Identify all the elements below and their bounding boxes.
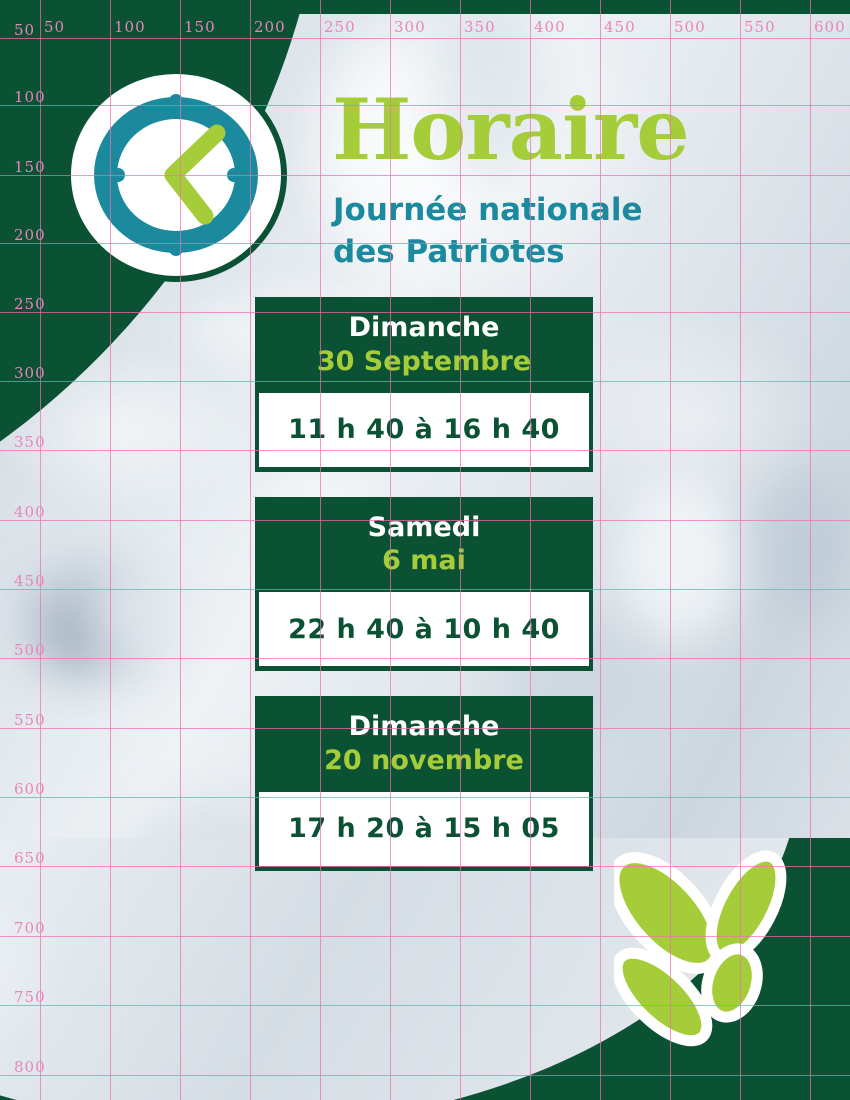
photo-blur-blob <box>760 470 850 620</box>
schedule-date: 30 Septembre <box>265 345 583 379</box>
schedule-time: 17 h 20 à 15 h 05 <box>257 790 591 868</box>
page-subtitle: Journée nationale des Patriotes <box>333 190 763 274</box>
schedule-card[interactable]: Dimanche 30 Septembre 11 h 40 à 16 h 40 <box>255 297 593 472</box>
schedule-date: 6 mai <box>265 544 583 578</box>
poster-canvas: Horaire Journée nationale des Patriotes … <box>0 0 850 1100</box>
page-title: Horaire <box>332 88 689 172</box>
clock-icon <box>65 68 287 283</box>
green-bar-top <box>0 0 850 14</box>
schedule-card[interactable]: Dimanche 20 novembre 17 h 20 à 15 h 05 <box>255 696 593 871</box>
schedule-time: 22 h 40 à 10 h 40 <box>257 590 591 668</box>
schedule-time-frame: 17 h 20 à 15 h 05 <box>255 790 593 871</box>
schedule-day: Samedi <box>265 511 583 545</box>
schedule-card[interactable]: Samedi 6 mai 22 h 40 à 10 h 40 <box>255 497 593 672</box>
subtitle-line-2: des Patriotes <box>333 232 763 274</box>
butterfly-icon <box>614 845 804 1060</box>
schedule-card-header: Dimanche 20 novembre <box>255 696 593 790</box>
schedule-date: 20 novembre <box>265 744 583 778</box>
schedule-day: Dimanche <box>265 710 583 744</box>
subtitle-line-1: Journée nationale <box>333 190 763 232</box>
schedule-card-header: Dimanche 30 Septembre <box>255 297 593 391</box>
schedule-day: Dimanche <box>265 311 583 345</box>
schedule-time: 11 h 40 à 16 h 40 <box>257 391 591 469</box>
schedule-list: Dimanche 30 Septembre 11 h 40 à 16 h 40 … <box>255 297 593 896</box>
schedule-time-frame: 22 h 40 à 10 h 40 <box>255 590 593 671</box>
schedule-card-header: Samedi 6 mai <box>255 497 593 591</box>
photo-blur-blob <box>620 480 740 640</box>
schedule-time-frame: 11 h 40 à 16 h 40 <box>255 391 593 472</box>
photo-blur-blob <box>95 575 175 655</box>
